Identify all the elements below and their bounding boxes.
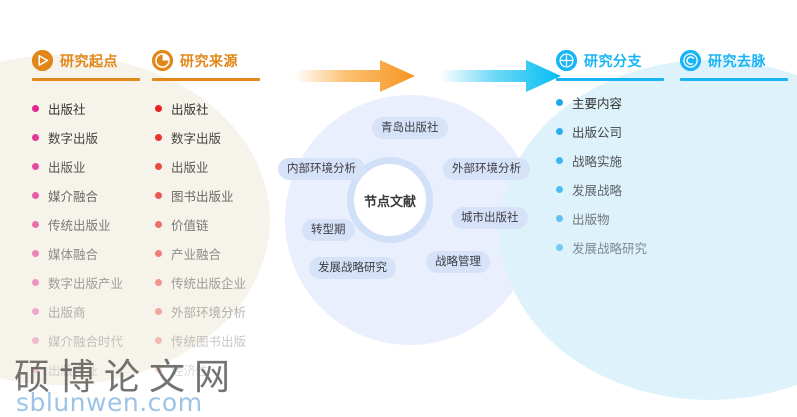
bullet-dot: [155, 337, 162, 344]
list-item[interactable]: 出版业: [155, 152, 285, 181]
list-item-label: 战略实施: [572, 151, 622, 170]
list-item[interactable]: 外部环境分析: [155, 297, 285, 326]
bullet-dot: [155, 308, 162, 315]
bullet-dot: [556, 99, 563, 106]
play-circle-icon: [32, 50, 53, 71]
keyword-tag[interactable]: 外部环境分析: [443, 158, 530, 180]
column-rule-research-source: [152, 78, 260, 81]
list-item[interactable]: 出版业: [32, 152, 162, 181]
column-header-research-origin: 研究起点: [32, 50, 118, 71]
bullet-dot: [155, 221, 162, 228]
arrow-blue: [440, 58, 562, 98]
bullet-dot: [32, 192, 39, 199]
keyword-tag[interactable]: 青岛出版社: [372, 117, 448, 139]
watermark-domain: sblunwen.com: [16, 388, 203, 417]
list-item-label: 出版物: [572, 209, 610, 228]
list-item[interactable]: 出版物: [556, 204, 686, 233]
infographic-canvas: 研究起点 研究来源 研究分支: [0, 0, 797, 417]
list-item[interactable]: 数字出版: [155, 123, 285, 152]
bullet-dot: [32, 279, 39, 286]
spiral-circle-icon: [680, 50, 701, 71]
bullet-dot: [556, 128, 563, 135]
column-rule-research-context: [680, 78, 788, 81]
keyword-tag[interactable]: 城市出版社: [452, 207, 528, 229]
list-item-label: 数字出版产业: [48, 273, 123, 292]
bullet-dot: [155, 163, 162, 170]
column-rule-research-origin: [32, 78, 140, 81]
list-item-label: 媒体融合: [48, 244, 98, 263]
list-item-label: 出版业: [171, 157, 209, 176]
list-item-label: 传统出版企业: [171, 273, 246, 292]
list-item[interactable]: 传统出版企业: [155, 268, 285, 297]
column-title: 研究来源: [180, 51, 238, 71]
list-item-label: 发展战略研究: [572, 238, 647, 257]
column-rule-research-branch: [556, 78, 664, 81]
bullet-dot: [155, 250, 162, 257]
list-item[interactable]: 媒体融合: [32, 239, 162, 268]
bullet-dot: [32, 337, 39, 344]
list-item[interactable]: 发展战略: [556, 175, 686, 204]
list-item[interactable]: 图书出版业: [155, 181, 285, 210]
list-item[interactable]: 发展战略研究: [556, 233, 686, 262]
list-item[interactable]: 传统出版业: [32, 210, 162, 239]
bullet-dot: [155, 192, 162, 199]
list-item-label: 出版商: [48, 302, 86, 321]
arrow-orange: [294, 58, 416, 98]
list-item-label: 出版业: [48, 157, 86, 176]
keyword-tag[interactable]: 战略管理: [426, 251, 490, 273]
pie-chart-icon: [152, 50, 173, 71]
keyword-tag[interactable]: 内部环境分析: [278, 158, 365, 180]
list-item[interactable]: 数字出版: [32, 123, 162, 152]
list-item-label: 数字出版: [48, 128, 98, 147]
list-item[interactable]: 出版商: [32, 297, 162, 326]
list-item-label: 发展战略: [572, 180, 622, 199]
bullet-dot: [155, 134, 162, 141]
bullet-dot: [32, 250, 39, 257]
list-item-label: 外部环境分析: [171, 302, 246, 321]
column-header-research-source: 研究来源: [152, 50, 238, 71]
bullet-dot: [556, 244, 563, 251]
list-research-source: 出版社数字出版出版业图书出版业价值链产业融合传统出版企业外部环境分析传统图书出版…: [155, 94, 285, 384]
list-item[interactable]: 出版社: [155, 94, 285, 123]
bullet-dot: [155, 279, 162, 286]
list-item-label: 产业融合: [171, 244, 221, 263]
bullet-dot: [32, 105, 39, 112]
list-research-origin: 出版社数字出版出版业媒介融合传统出版业媒体融合数字出版产业出版商媒介融合时代出版…: [32, 94, 162, 384]
list-item[interactable]: 产业融合: [155, 239, 285, 268]
list-item[interactable]: 战略实施: [556, 146, 686, 175]
list-item-label: 数字出版: [171, 128, 221, 147]
bullet-dot: [556, 157, 563, 164]
list-item-label: 传统出版业: [48, 215, 111, 234]
keyword-tag[interactable]: 转型期: [302, 219, 355, 241]
keyword-tag[interactable]: 发展战略研究: [309, 257, 396, 279]
list-item-label: 价值链: [171, 215, 209, 234]
list-item-label: 出版社: [171, 99, 209, 118]
list-item[interactable]: 主要内容: [556, 88, 686, 117]
list-item-label: 图书出版业: [171, 186, 234, 205]
bullet-dot: [32, 134, 39, 141]
bullet-dot: [32, 163, 39, 170]
bullet-dot: [32, 221, 39, 228]
bullet-dot: [556, 186, 563, 193]
column-header-research-branch: 研究分支: [556, 50, 642, 71]
list-item[interactable]: 媒介融合: [32, 181, 162, 210]
list-item[interactable]: 出版公司: [556, 117, 686, 146]
list-item-label: 出版社: [48, 99, 86, 118]
list-item-label: 媒介融合: [48, 186, 98, 205]
bullet-dot: [556, 215, 563, 222]
column-header-research-context: 研究去脉: [680, 50, 766, 71]
list-item[interactable]: 数字出版产业: [32, 268, 162, 297]
list-item-label: 主要内容: [572, 93, 622, 112]
bullet-dot: [32, 308, 39, 315]
list-item[interactable]: 价值链: [155, 210, 285, 239]
column-title: 研究分支: [584, 51, 642, 71]
column-title: 研究去脉: [708, 51, 766, 71]
column-title: 研究起点: [60, 51, 118, 71]
bullet-dot: [155, 105, 162, 112]
list-research-branch: 主要内容出版公司战略实施发展战略出版物发展战略研究: [556, 88, 686, 262]
list-item[interactable]: 出版社: [32, 94, 162, 123]
list-item-label: 出版公司: [572, 122, 622, 141]
